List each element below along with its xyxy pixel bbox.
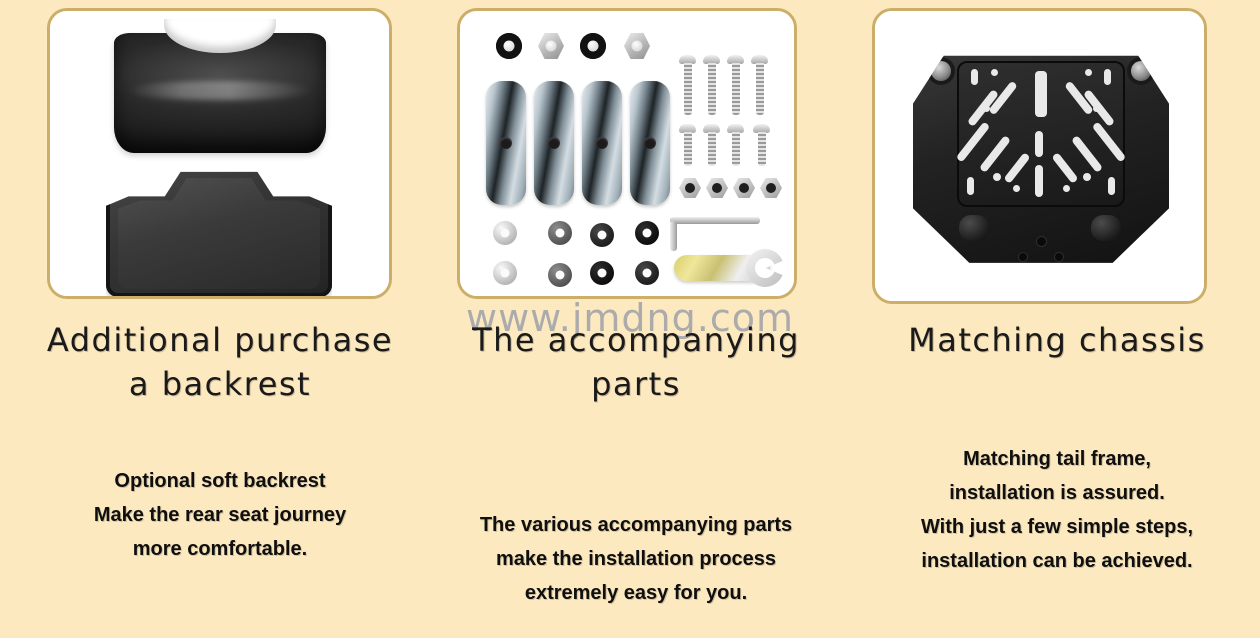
washer <box>493 221 517 245</box>
column-heading-line2: a backrest <box>10 362 430 406</box>
column-body-line: Matching tail frame, <box>862 442 1252 476</box>
long-screw <box>703 55 720 64</box>
backrest-pad <box>106 161 332 297</box>
column-heading: Matching chassis <box>862 318 1252 362</box>
fixing-hole <box>1037 237 1046 246</box>
short-screw <box>753 124 770 133</box>
lock-nut <box>760 178 782 198</box>
column-body-line: With just a few simple steps, <box>862 510 1252 544</box>
column-body-line: Optional soft backrest <box>10 464 430 498</box>
feature-column-backrest: Additional purchase a backrest Optional … <box>10 318 430 566</box>
column-body: Optional soft backrest Make the rear sea… <box>10 464 430 566</box>
rubber-bumper <box>959 215 989 241</box>
short-screw <box>727 124 744 133</box>
parts-photo <box>460 11 794 296</box>
column-body-line: Make the rear seat journey <box>10 498 430 532</box>
clamp-bracket <box>630 81 670 205</box>
washer <box>590 261 614 285</box>
backrest-photo <box>50 11 389 296</box>
short-screw <box>679 124 696 133</box>
clamp-bracket <box>534 81 574 205</box>
product-feature-banner: www.jmdng.com Additional purchase a back… <box>0 0 1260 638</box>
hex-nut-icon <box>538 33 564 59</box>
product-photo-card-parts <box>457 8 797 299</box>
column-heading-line1: Additional purchase <box>10 318 430 362</box>
column-heading-line1: The accompanying parts <box>422 318 850 406</box>
washer <box>548 221 572 245</box>
feature-column-chassis: Matching chassis Matching tail frame, in… <box>862 318 1252 578</box>
column-body-line: extremely easy for you. <box>422 576 850 610</box>
open-end-wrench <box>674 255 770 281</box>
fixing-hole <box>1055 253 1063 261</box>
lock-nut <box>706 178 728 198</box>
lock-nut <box>733 178 755 198</box>
washer <box>493 261 517 285</box>
chassis-plate <box>913 47 1169 265</box>
hex-nut-icon <box>624 33 650 59</box>
column-body-line: more comfortable. <box>10 532 430 566</box>
long-screw <box>679 55 696 64</box>
backrest-cushion <box>114 33 326 153</box>
washer <box>635 261 659 285</box>
rubber-grommet-icon <box>580 33 606 59</box>
chassis-photo <box>875 11 1204 301</box>
mounting-bolt <box>931 61 951 81</box>
column-heading-line1: Matching chassis <box>862 318 1252 362</box>
column-heading: Additional purchase a backrest <box>10 318 430 406</box>
washer <box>590 223 614 247</box>
fixing-hole <box>1019 253 1027 261</box>
product-photo-card-chassis <box>872 8 1207 304</box>
chassis-slot-panel <box>957 61 1125 207</box>
feature-column-parts: The accompanying parts The various accom… <box>422 318 850 610</box>
column-body: Matching tail frame, installation is ass… <box>862 442 1252 578</box>
column-body-line: installation is assured. <box>862 476 1252 510</box>
lock-nut <box>679 178 701 198</box>
rubber-grommet-icon <box>496 33 522 59</box>
clamp-bracket <box>582 81 622 205</box>
clamp-bracket <box>486 81 526 205</box>
column-body-line: installation can be achieved. <box>862 544 1252 578</box>
column-heading: The accompanying parts <box>422 318 850 406</box>
long-screw <box>751 55 768 64</box>
column-body-line: The various accompanying parts <box>422 508 850 542</box>
rubber-bumper <box>1091 215 1121 241</box>
allen-key <box>670 217 760 224</box>
short-screw <box>703 124 720 133</box>
washer <box>635 221 659 245</box>
column-body: The various accompanying parts make the … <box>422 508 850 610</box>
mounting-bolt <box>1131 61 1151 81</box>
long-screw <box>727 55 744 64</box>
product-photo-card-backrest <box>47 8 392 299</box>
column-body-line: make the installation process <box>422 542 850 576</box>
washer <box>548 263 572 287</box>
backrest-pad-inner <box>118 171 320 289</box>
